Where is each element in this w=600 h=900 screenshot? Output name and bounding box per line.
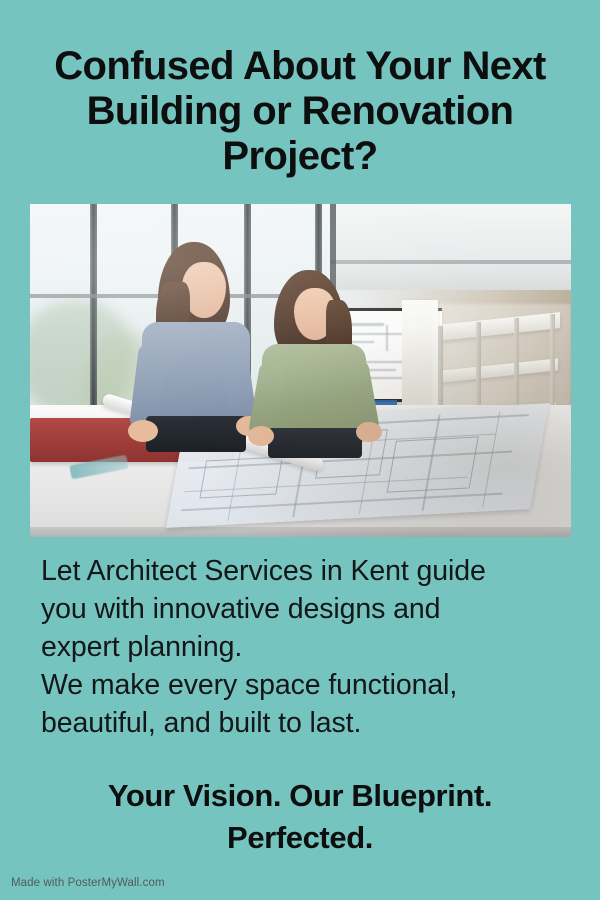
- tagline-line-2: Perfected.: [26, 817, 574, 859]
- tagline: Your Vision. Our Blueprint. Perfected.: [0, 775, 600, 859]
- headline-line-1: Confused About Your Next: [32, 44, 568, 89]
- page-title: Confused About Your Next Building or Ren…: [0, 44, 600, 179]
- poster-canvas: Confused About Your Next Building or Ren…: [0, 0, 600, 900]
- headline-line-2: Building or Renovation: [32, 89, 568, 134]
- body-copy: Let Architect Services in Kent guide you…: [41, 552, 561, 742]
- hero-photo: [30, 204, 571, 537]
- postermywall-watermark: Made with PosterMyWall.com: [11, 877, 165, 889]
- tagline-line-1: Your Vision. Our Blueprint.: [26, 775, 574, 817]
- body-line-5: beautiful, and built to last.: [41, 704, 561, 742]
- headline-line-3: Project?: [32, 134, 568, 179]
- window-mullion: [90, 204, 97, 436]
- body-line-1: Let Architect Services in Kent guide: [41, 552, 561, 590]
- table-edge: [30, 527, 571, 537]
- body-line-4: We make every space functional,: [41, 666, 561, 704]
- body-line-2: you with innovative designs and: [41, 590, 561, 628]
- photo-illustration: [30, 204, 571, 537]
- body-line-3: expert planning.: [41, 628, 561, 666]
